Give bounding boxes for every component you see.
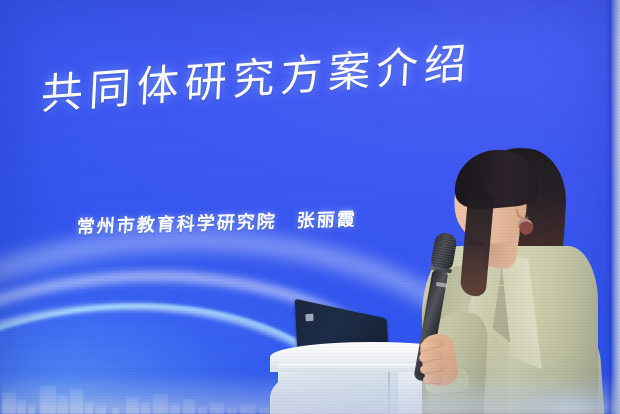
microphone-mesh — [430, 231, 458, 270]
right-floor-glow — [496, 354, 606, 414]
screen-right-edge — [611, 0, 620, 414]
microphone-logo — [436, 282, 448, 288]
screenshot-root: 共同体研究方案介绍 常州市教育科学研究院 张丽霞 — [0, 0, 620, 414]
laptop-logo — [305, 314, 313, 322]
microphone-head — [430, 231, 458, 270]
